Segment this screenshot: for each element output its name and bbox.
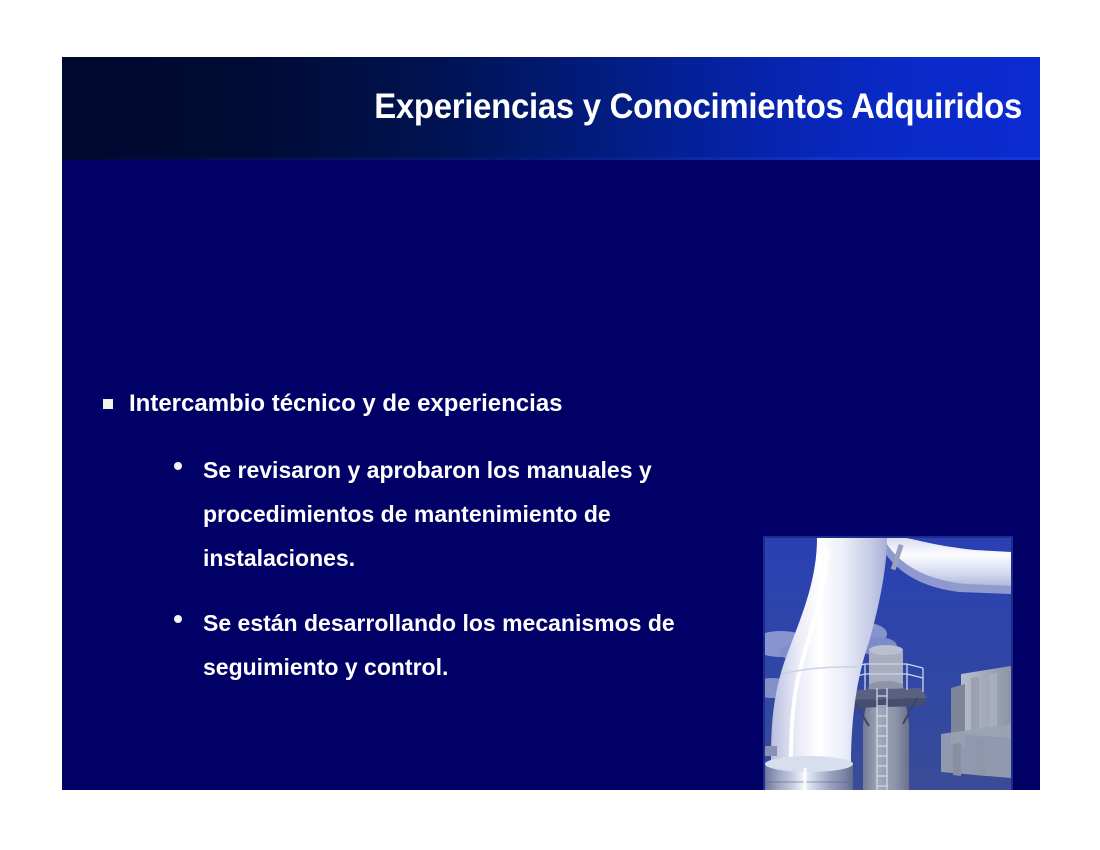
dot-bullet-icon: [174, 615, 182, 623]
list-item-level2: Se revisaron y aprobaron los manuales y …: [174, 448, 834, 580]
list-item-level2-label: Se revisaron y aprobaron los manuales y …: [203, 448, 763, 580]
dot-bullet-icon: [174, 462, 182, 470]
title-bar: Experiencias y Conocimientos Adquiridos: [62, 57, 1040, 157]
list-item-level1-label: Intercambio técnico y de experiencias: [129, 387, 563, 421]
sub-bullet-list: Se revisaron y aprobaron los manuales y …: [174, 448, 834, 710]
slide-body: Intercambio técnico y de experiencias Se…: [62, 160, 1040, 790]
page-title: Experiencias y Conocimientos Adquiridos: [120, 57, 1022, 157]
square-bullet-icon: [103, 399, 113, 409]
industrial-photo-illustration: [765, 538, 1011, 790]
list-item-level2: Se están desarrollando los mecanismos de…: [174, 601, 834, 689]
list-item-level2-label: Se están desarrollando los mecanismos de…: [203, 601, 763, 689]
slide: Experiencias y Conocimientos Adquiridos …: [62, 57, 1040, 790]
list-item-level1: Intercambio técnico y de experiencias: [103, 387, 563, 421]
metal-cladding: [765, 756, 853, 790]
industrial-photo: [763, 536, 1013, 790]
